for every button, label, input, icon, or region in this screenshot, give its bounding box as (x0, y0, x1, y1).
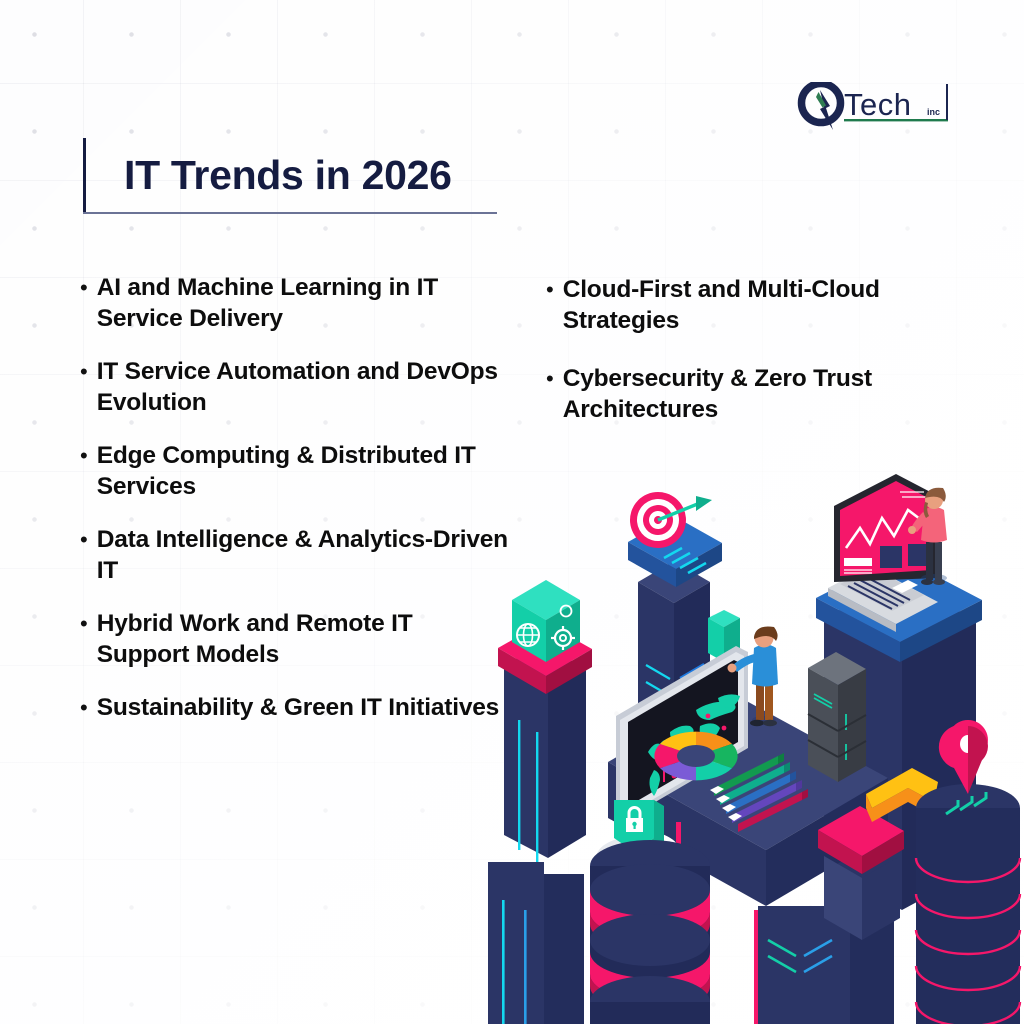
list-item: • IT Service Automation and DevOps Evolu… (80, 356, 510, 418)
logo-green-rule (844, 119, 948, 121)
list-item-label: Hybrid Work and Remote IT Support Models (97, 608, 510, 670)
bullet-marker-icon: • (546, 363, 554, 394)
logo-q-mark (802, 84, 841, 131)
bullet-marker-icon: • (546, 274, 554, 305)
list-item: • Hybrid Work and Remote IT Support Mode… (80, 608, 510, 670)
list-item: • Cybersecurity & Zero Trust Architectur… (546, 363, 956, 425)
list-item: • AI and Machine Learning in IT Service … (80, 272, 510, 334)
svg-text:Tech: Tech (844, 87, 911, 122)
list-item-label: Cybersecurity & Zero Trust Architectures (563, 363, 956, 425)
bullet-marker-icon: • (80, 272, 88, 303)
list-item-label: Edge Computing & Distributed IT Services (97, 440, 510, 502)
list-item: • Edge Computing & Distributed IT Servic… (80, 440, 510, 502)
list-item: • Cloud-First and Multi-Cloud Strategies (546, 274, 956, 336)
tower-bottom-left (488, 862, 584, 1024)
poster-canvas: Tech inc IT Trends in 2026 • AI and Mach… (0, 0, 1024, 1024)
title-accent-bar (83, 138, 86, 214)
page-title: IT Trends in 2026 (83, 138, 498, 212)
list-item-label: Sustainability & Green IT Initiatives (97, 692, 499, 723)
title-underline (83, 212, 497, 214)
svg-text:inc: inc (927, 107, 940, 117)
page-title-block: IT Trends in 2026 (83, 138, 498, 212)
list-item-label: AI and Machine Learning in IT Service De… (97, 272, 510, 334)
chart-panel (880, 546, 902, 568)
database-cylinder (590, 840, 710, 1024)
isometric-illustration (468, 470, 1024, 1024)
qtech-logo[interactable]: Tech inc (796, 82, 956, 134)
bullet-marker-icon: • (80, 440, 88, 471)
list-item-label: IT Service Automation and DevOps Evoluti… (97, 356, 510, 418)
server-rack (808, 652, 866, 782)
trend-list-left: • AI and Machine Learning in IT Service … (80, 272, 510, 745)
logo-wordmark: Tech inc (844, 87, 940, 122)
bullet-marker-icon: • (80, 356, 88, 387)
list-item: • Sustainability & Green IT Initiatives (80, 692, 510, 723)
bullet-marker-icon: • (80, 692, 88, 723)
list-item: • Data Intelligence & Analytics-Driven I… (80, 524, 510, 586)
donut-chart (654, 732, 738, 781)
list-item-label: Data Intelligence & Analytics-Driven IT (97, 524, 510, 586)
bullet-marker-icon: • (80, 608, 88, 639)
logo-navy-edge (946, 84, 948, 120)
ground-fill (468, 1006, 1024, 1024)
pink-slab-right (818, 806, 904, 940)
list-item-label: Cloud-First and Multi-Cloud Strategies (563, 274, 956, 336)
chart-bar-light (844, 558, 872, 566)
database-cylinder-right (916, 784, 1020, 1024)
bullet-marker-icon: • (80, 524, 88, 555)
trend-list-right: • Cloud-First and Multi-Cloud Strategies… (546, 274, 956, 452)
